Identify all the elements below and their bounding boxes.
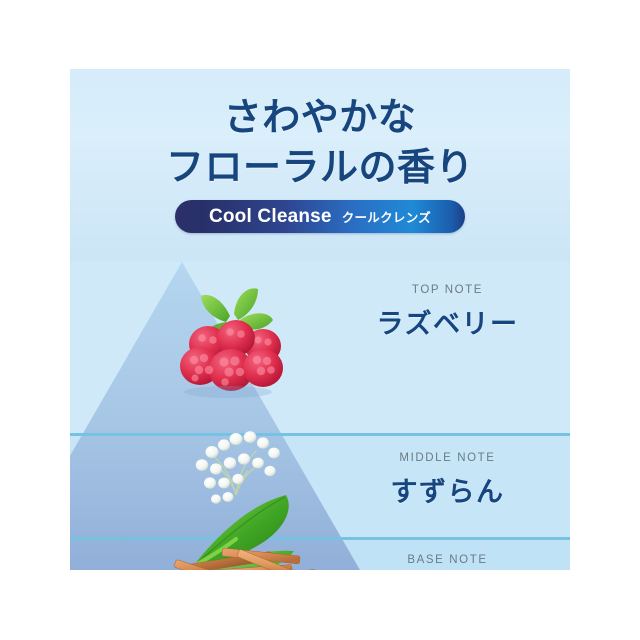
note-middle-kicker: MIDDLE NOTE: [325, 452, 570, 464]
note-middle: MIDDLE NOTE すずらん: [325, 452, 570, 509]
page-title: さわやかな フローラルの香り: [70, 93, 570, 193]
infographic-card: さわやかな フローラルの香り Cool Cleanse クールクレンズ: [70, 69, 570, 570]
note-top: TOP NOTE ラズベリー: [325, 284, 570, 341]
headline-line-2: フローラルの香り: [70, 143, 570, 193]
badge-container: Cool Cleanse クールクレンズ: [70, 200, 570, 233]
badge-label-jp: クールクレンズ: [342, 207, 431, 226]
headline-line-1: さわやかな: [70, 93, 570, 143]
note-base-kicker: BASE NOTE: [325, 554, 570, 566]
hero-section: さわやかな フローラルの香り Cool Cleanse クールクレンズ: [70, 69, 570, 262]
scent-pyramid: TOP NOTE ラズベリー MIDDLE NOTE すずらん BASE NOT…: [70, 262, 570, 570]
note-label-column: TOP NOTE ラズベリー MIDDLE NOTE すずらん BASE NOT…: [70, 262, 570, 570]
badge-label-en: Cool Cleanse: [209, 206, 332, 228]
product-variant-badge: Cool Cleanse クールクレンズ: [175, 200, 465, 233]
note-top-kicker: TOP NOTE: [325, 284, 570, 296]
note-base: BASE NOTE サンダルウッド: [325, 554, 570, 570]
note-middle-name: すずらん: [325, 470, 570, 509]
note-top-name: ラズベリー: [325, 302, 570, 341]
product-scent-infographic: さわやかな フローラルの香り Cool Cleanse クールクレンズ: [0, 0, 640, 640]
